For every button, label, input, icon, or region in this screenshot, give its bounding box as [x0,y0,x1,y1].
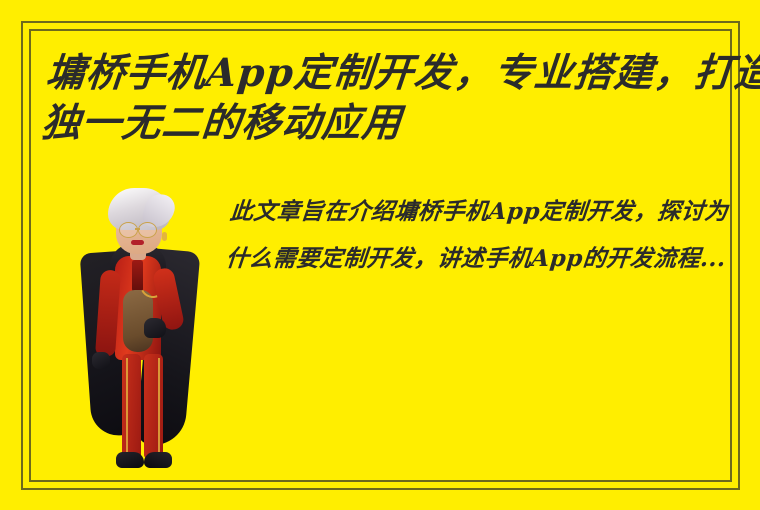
shoe-right [144,452,172,468]
earring [162,232,167,241]
trouser-leg-right [144,354,163,458]
trouser-piping-right [158,358,160,452]
poster-canvas: 墉桥手机App定制开发，专业搭建，打造独一无二的移动应用 此文章旨在介绍墉桥手机… [0,0,760,510]
glove-left [92,352,110,369]
trouser-piping-left [126,358,128,452]
glasses-lens-right [138,222,157,238]
shoe-left [116,452,144,468]
page-title: 墉桥手机App定制开发，专业搭建，打造独一无二的移动应用 [40,48,760,148]
character-illustration [74,186,200,474]
glasses-lens-left [119,222,138,238]
lips [131,240,144,245]
trouser-leg-left [122,354,141,458]
body-description-text: 此文章旨在介绍墉桥手机App定制开发，探讨为什么需要定制开发，讲述手机App的开… [224,188,740,282]
glasses-bridge [135,228,140,230]
glove-right [144,318,166,338]
